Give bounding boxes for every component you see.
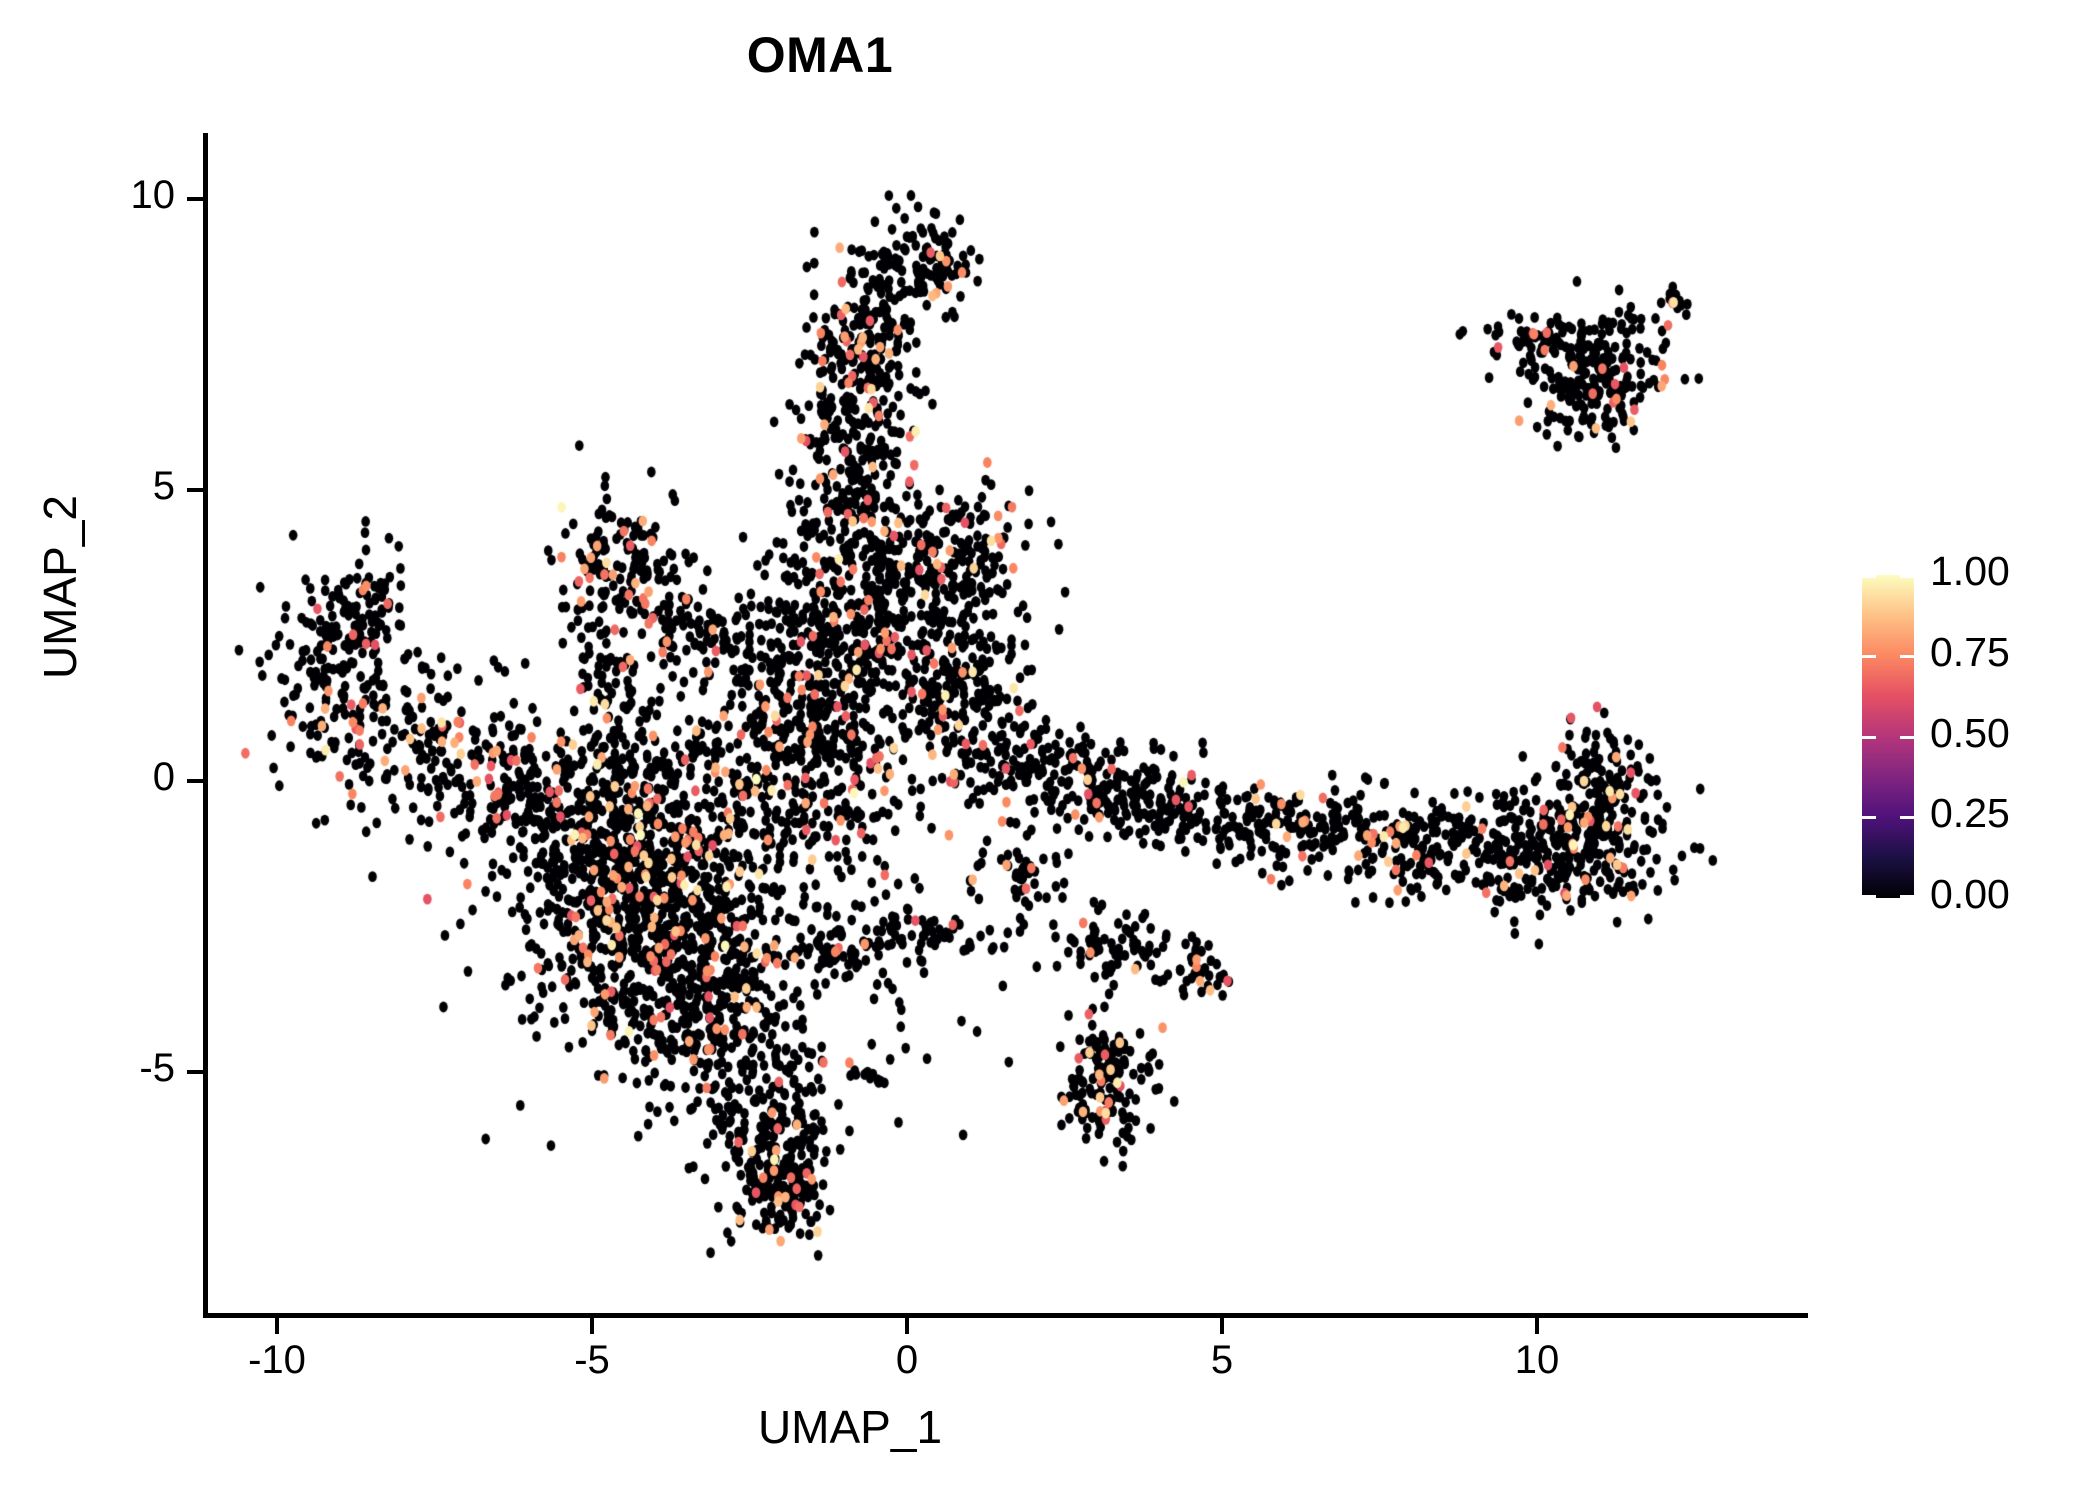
x-axis-line (203, 1313, 1808, 1318)
colorbar-tick-label: 0.00 (1930, 871, 2010, 918)
colorbar-tick-label: 1.00 (1930, 548, 2010, 595)
colorbar-tick-label: 0.25 (1930, 790, 2010, 837)
x-tick-label: -5 (512, 1338, 672, 1383)
y-tick-label: -5 (60, 1046, 175, 1091)
umap-feature-plot: OMA1 -50510 -10-50510 UMAP_1 UMAP_2 1.00… (0, 0, 2100, 1500)
colorbar-tick-mark (1862, 655, 1914, 658)
x-axis-title: UMAP_1 (0, 1400, 1700, 1454)
colorbar-tick-label: 0.75 (1930, 629, 2010, 676)
x-tick-mark (590, 1318, 594, 1334)
colorbar-tick-mark (1862, 736, 1914, 739)
x-tick-label: -10 (197, 1338, 357, 1383)
plot-panel (207, 135, 1807, 1315)
colorbar-tick-label: 0.50 (1930, 710, 2010, 757)
x-tick-mark (905, 1318, 909, 1334)
y-tick-mark (187, 488, 203, 492)
y-axis-title: UMAP_2 (33, 307, 87, 867)
y-tick-mark (187, 779, 203, 783)
x-tick-mark (1535, 1318, 1539, 1334)
y-axis-line (203, 133, 208, 1318)
colorbar-tick-mark (1862, 816, 1914, 819)
scatter-canvas (207, 135, 1807, 1315)
color-legend: 1.000.750.500.250.00 (1862, 575, 2082, 905)
colorbar-tick-mark (1862, 575, 1914, 578)
x-tick-label: 10 (1457, 1338, 1617, 1383)
x-tick-mark (1220, 1318, 1224, 1334)
y-tick-mark (187, 197, 203, 201)
x-tick-label: 5 (1142, 1338, 1302, 1383)
y-tick-mark (187, 1070, 203, 1074)
x-tick-mark (275, 1318, 279, 1334)
page-title: OMA1 (0, 26, 1640, 84)
colorbar-tick-mark (1862, 895, 1914, 898)
y-tick-label: 10 (60, 173, 175, 218)
x-tick-label: 0 (827, 1338, 987, 1383)
